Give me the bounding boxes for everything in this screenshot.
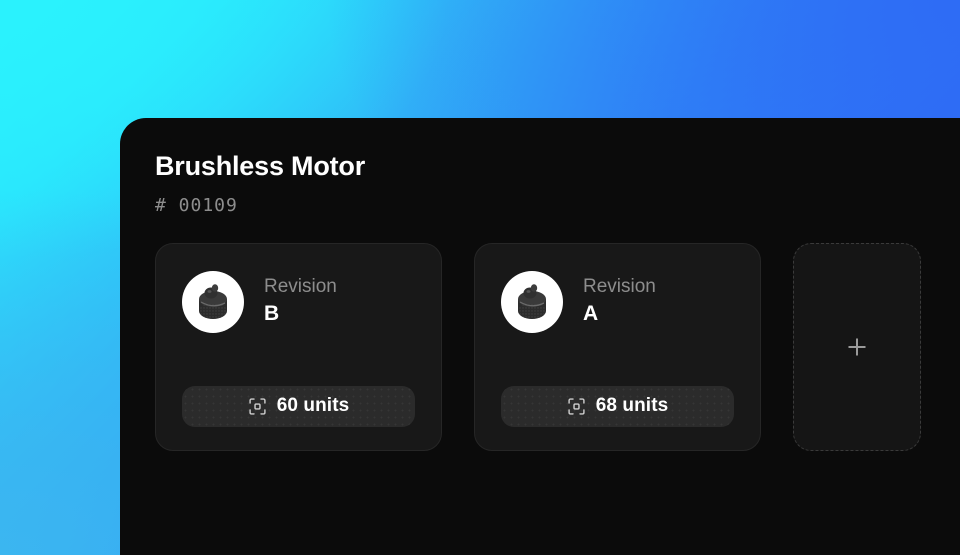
panel-header: Brushless Motor # 00109 [155, 152, 960, 216]
scan-icon [567, 397, 586, 416]
avatar [182, 271, 244, 333]
plus-icon [844, 334, 870, 360]
scan-icon [248, 397, 267, 416]
add-revision-card[interactable] [793, 243, 921, 451]
revision-value: B [264, 300, 337, 328]
avatar [501, 271, 563, 333]
revision-card[interactable]: Revision B 60 units [155, 243, 442, 451]
units-count: 60 units [277, 395, 350, 417]
page-title: Brushless Motor [155, 152, 960, 182]
detail-panel: Brushless Motor # 00109 [120, 118, 960, 555]
motor-part-render-icon [510, 280, 554, 324]
units-badge[interactable]: 60 units [182, 386, 415, 427]
units-count: 68 units [596, 395, 669, 417]
revision-label: Revision [583, 275, 656, 299]
part-number: # 00109 [155, 195, 960, 216]
motor-part-render-icon [191, 280, 235, 324]
revision-value: A [583, 300, 656, 328]
revision-label: Revision [264, 275, 337, 299]
revision-cards-row: Revision B 60 units [155, 243, 960, 451]
revision-meta: Revision A [583, 275, 656, 329]
revision-card-header: Revision B [182, 271, 415, 333]
revision-card-header: Revision A [501, 271, 734, 333]
units-badge[interactable]: 68 units [501, 386, 734, 427]
revision-card[interactable]: Revision A 68 units [474, 243, 761, 451]
revision-meta: Revision B [264, 275, 337, 329]
